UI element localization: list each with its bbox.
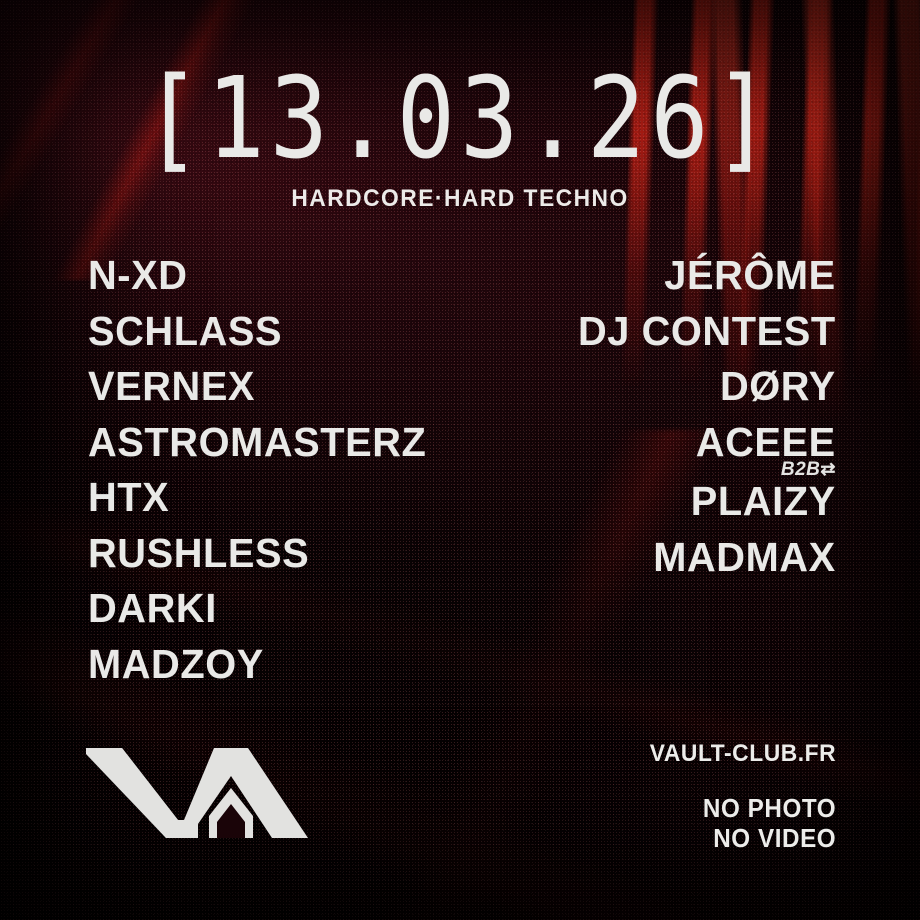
artist-name: MADZOY [88,637,426,693]
artist-name: JÉRÔME [578,248,836,304]
artist-name: HTX [88,470,426,526]
rule-no-video: NO VIDEO [650,824,836,854]
footer-info: VAULT-CLUB.FR NO PHOTO NO VIDEO [640,740,836,854]
event-poster: [13.03.26] HARDCORE·HARD TECHNO N-XD SCH… [0,0,920,920]
date-header: [13.03.26] HARDCORE·HARD TECHNO [0,62,920,213]
lineup-column-right: JÉRÔME DJ CONTEST DØRY ACEEE B2B⇄ PLAIZY… [570,248,836,585]
poster-content: [13.03.26] HARDCORE·HARD TECHNO N-XD SCH… [0,0,920,920]
website-url[interactable]: VAULT-CLUB.FR [650,740,836,768]
artist-name: N-XD [88,248,426,304]
artist-name: ASTROMASTERZ [88,415,426,471]
vault-club-logo [86,742,308,846]
genre-subtitle: HARDCORE·HARD TECHNO [32,185,888,213]
artist-name: SCHLASS [88,304,426,360]
artist-name: MADMAX [578,530,836,586]
lineup-section: N-XD SCHLASS VERNEX ASTROMASTERZ HTX RUS… [0,248,920,678]
artist-name: ACEEE [578,415,836,471]
rule-no-photo: NO PHOTO [650,794,836,824]
artist-name: RUSHLESS [88,526,426,582]
event-date: [13.03.26] [0,62,920,175]
lineup-column-left: N-XD SCHLASS VERNEX ASTROMASTERZ HTX RUS… [88,248,437,692]
artist-name: DØRY [578,359,836,415]
artist-name: PLAIZY [578,474,836,530]
artist-name: VERNEX [88,359,426,415]
artist-name: DJ CONTEST [578,304,836,360]
venue-rules: NO PHOTO NO VIDEO [640,794,836,854]
artist-name: DARKI [88,581,426,637]
